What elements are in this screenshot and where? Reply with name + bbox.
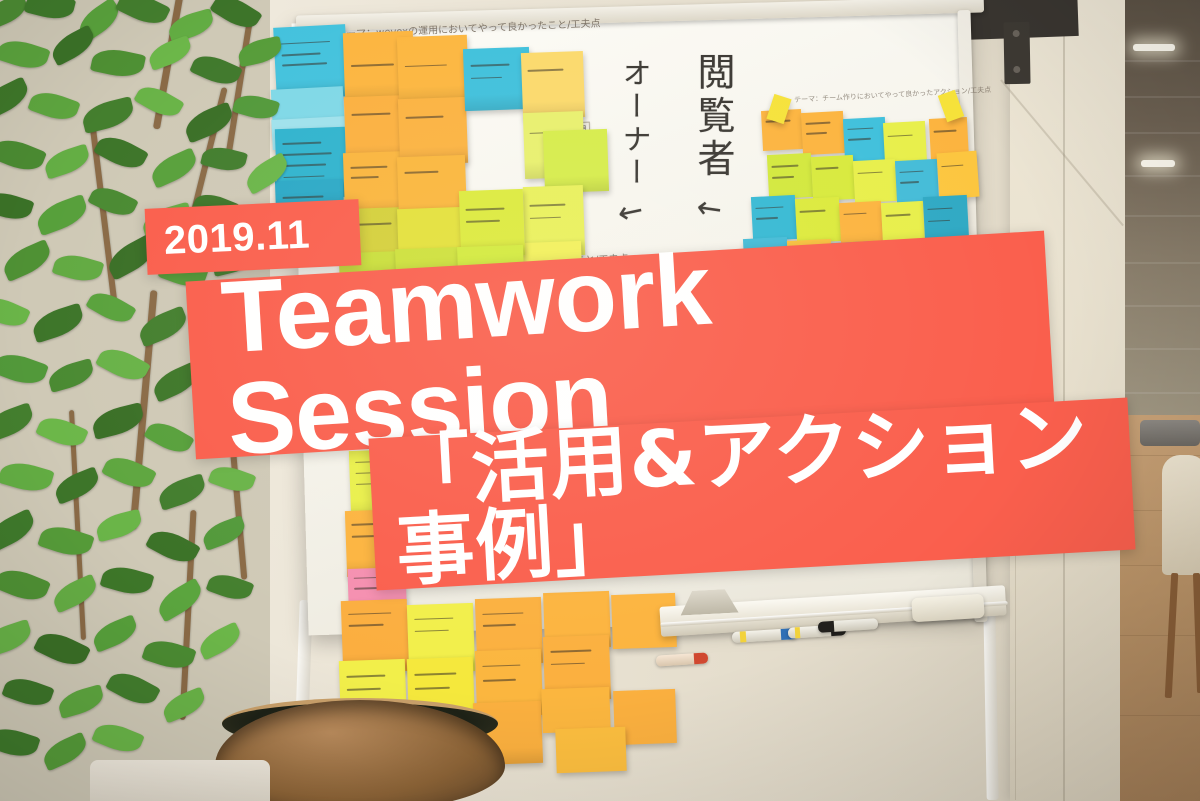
sticky-note — [555, 727, 626, 773]
sticky-note — [853, 159, 897, 203]
sticky-note — [767, 153, 813, 199]
sticky-note — [811, 155, 855, 201]
handwriting-viewer-arrow: ↓ — [688, 194, 727, 228]
chair-front — [1162, 455, 1200, 705]
sticky-note — [541, 687, 610, 733]
sticky-note — [801, 111, 845, 155]
sticky-note — [397, 35, 469, 105]
background-corridor — [1125, 0, 1200, 430]
handwriting-viewer: 閲覧者 — [686, 52, 741, 182]
chair-back — [1140, 420, 1200, 460]
sofa-armrest — [90, 760, 270, 801]
beam-bracket — [1003, 22, 1030, 84]
ceiling-light-icon — [1141, 160, 1175, 167]
ceiling-light-icon — [1133, 44, 1175, 51]
whiteboard-eraser — [911, 594, 984, 622]
key-visual: オーナー ↓ 閲覧者 ↓ テーマ：wevoxの運用においてやって良かったこと/工… — [0, 0, 1200, 801]
sticky-note — [936, 151, 979, 200]
sticky-note — [521, 51, 585, 119]
handwriting-owner: オーナー — [614, 58, 656, 190]
